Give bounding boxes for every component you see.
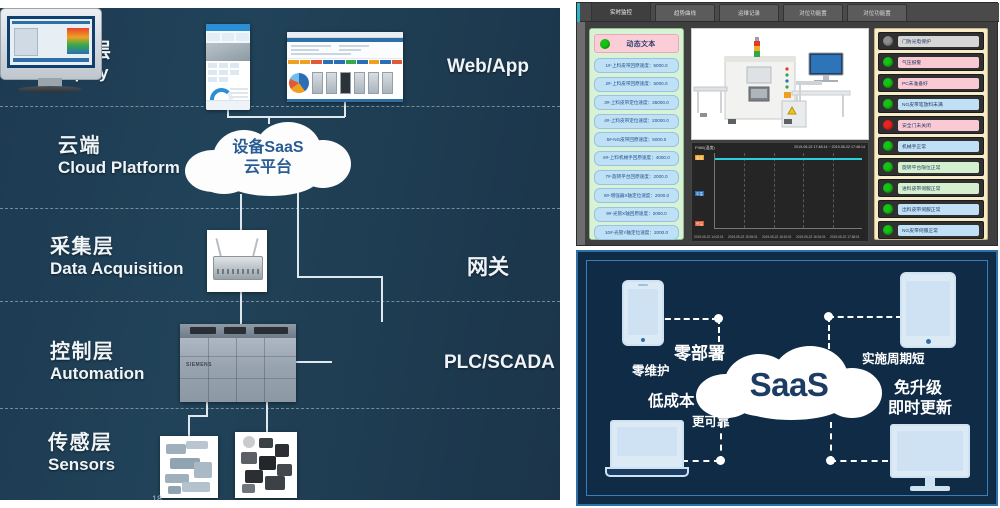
pc-statusbar bbox=[287, 99, 403, 102]
layer-label-acq: 采集层 Data Acquisition bbox=[50, 236, 184, 278]
pc-info-table bbox=[287, 42, 403, 59]
machine-illustration bbox=[692, 29, 868, 139]
monitor-bezel bbox=[0, 8, 102, 80]
alarm-indicator-icon bbox=[883, 36, 893, 46]
chart-y-label-high: 高温 bbox=[695, 155, 704, 160]
alarm-row[interactable]: 机械手正常 bbox=[878, 137, 984, 155]
web-dashboard-screenshot bbox=[287, 32, 403, 102]
mobile-app-screenshot bbox=[206, 24, 250, 110]
alarm-indicator-icon bbox=[883, 141, 893, 151]
chart-series-line bbox=[715, 158, 862, 160]
monitor-screen bbox=[7, 16, 95, 68]
alarm-label: 出料皮带伺服正常 bbox=[898, 204, 979, 215]
scada-tab-4[interactable]: 对位功能置 bbox=[847, 4, 907, 21]
connector-plc-sensor1-h bbox=[188, 415, 208, 417]
hmi-window bbox=[10, 19, 92, 65]
alarm-label: 旋转平台限位正常 bbox=[898, 162, 979, 173]
phone-machine-photo bbox=[206, 43, 250, 61]
side-label-gateway: 网关 bbox=[467, 251, 509, 281]
alarm-label: PC未准备好 bbox=[898, 78, 979, 89]
plc-body: SIEMENS bbox=[180, 338, 296, 402]
phone-tabbar bbox=[206, 100, 250, 110]
alarm-indicator-icon bbox=[883, 162, 893, 172]
status-indicator-icon bbox=[600, 39, 610, 49]
parameter-row[interactable]: 6#-上料机械手回原速度：4000.0 bbox=[594, 151, 679, 166]
alarm-row[interactable]: 门防光电保护 bbox=[878, 32, 984, 50]
connector-display-bus bbox=[227, 116, 345, 118]
plc-brand-mark: SIEMENS bbox=[186, 362, 212, 368]
tablet-icon bbox=[900, 272, 956, 348]
layer-label-auto: 控制层 Automation bbox=[50, 341, 144, 383]
scada-tab-2[interactable]: 运维记录 bbox=[719, 4, 779, 21]
parameter-row[interactable]: 2#-上料皮带回原速度：5000.0 bbox=[594, 77, 679, 92]
alarm-row[interactable]: NG皮带伺服正常 bbox=[878, 221, 984, 239]
layer-cn-cloud: 云端 bbox=[58, 135, 180, 157]
alarm-row[interactable]: 旋转平台限位正常 bbox=[878, 158, 984, 176]
connector-cloud-hmi-v2 bbox=[381, 276, 383, 322]
parameter-row[interactable]: 1#-上料皮带回原速度：5000.0 bbox=[594, 58, 679, 73]
cloud-label-line1: 设备SaaS bbox=[232, 139, 303, 156]
smartphone-icon bbox=[622, 280, 664, 346]
saas-label-short-cycle: 实施周期短 bbox=[862, 352, 925, 366]
saas-label-zero-maintain: 零维护 bbox=[632, 364, 670, 378]
cloud-platform-label: 设备SaaS 云平台 bbox=[183, 138, 353, 177]
layer-divider-2 bbox=[0, 208, 560, 209]
connector-plc-sensor2 bbox=[266, 402, 268, 434]
chart-x-tick: 2019-05-22 16:10:01 bbox=[762, 235, 792, 239]
pc-button-row bbox=[287, 59, 403, 67]
parameter-row[interactable]: 9#-光管X轴回原速度：2000.0 bbox=[594, 207, 679, 222]
desktop-monitor-icon bbox=[890, 424, 970, 478]
pneumatic-sensors-photo bbox=[160, 436, 218, 498]
scada-tab-3[interactable]: 对位功能置 bbox=[783, 4, 843, 21]
chart-x-tick: 2019-05-22 16:34:01 bbox=[796, 235, 826, 239]
monitor-base bbox=[18, 86, 82, 93]
connector-gateway-plc bbox=[240, 292, 242, 326]
dynamic-text-header: 动态文本 bbox=[594, 34, 679, 53]
chart-plot-area bbox=[714, 153, 862, 229]
layer-divider-3 bbox=[0, 301, 560, 302]
layer-cn-auto: 控制层 bbox=[50, 341, 144, 363]
saas-label-free-upgrade: 免升级 bbox=[894, 380, 942, 398]
saas-label-more-reliable: 更可靠 bbox=[692, 415, 730, 429]
chart-x-tick: 2019-05-22 14:02:01 bbox=[694, 235, 724, 239]
parameter-row[interactable]: 3#-上料皮带定位速度：35000.0 bbox=[594, 95, 679, 110]
alarm-indicator-icon bbox=[883, 225, 893, 235]
alarm-label: 气压报警 bbox=[898, 57, 979, 68]
chart-x-tick: 2019-05-22 15:26:01 bbox=[728, 235, 758, 239]
parameter-row[interactable]: 10#-光管Y轴定位速度：2000.0 bbox=[594, 225, 679, 240]
alarm-indicator-icon bbox=[883, 120, 893, 130]
alarm-label: 安全门未关闭 bbox=[898, 120, 979, 131]
alarm-row[interactable]: 出料皮带伺服正常 bbox=[878, 200, 984, 218]
node-desktop bbox=[826, 456, 835, 465]
parameter-list: 1#-上料皮带回原速度：5000.02#-上料皮带回原速度：5000.03#-上… bbox=[594, 58, 679, 240]
alarm-row[interactable]: 气压报警 bbox=[878, 53, 984, 71]
gateway-chassis bbox=[213, 256, 263, 280]
alarm-label: 机械手正常 bbox=[898, 141, 979, 152]
architecture-slide: 展示层 Display 云端 Cloud Platform 采集层 Data A… bbox=[0, 0, 560, 508]
chart-title: F980(温度) bbox=[695, 145, 715, 151]
trend-chart: F980(温度) 2019-05-22 17:48:14 ~ 2019-05-2… bbox=[691, 142, 869, 242]
parameter-row[interactable]: 5#-NG皮带回原速度：5000.0 bbox=[594, 132, 679, 147]
chart-y-label-mid: 中温 bbox=[695, 191, 704, 196]
scada-tab-0[interactable]: 实时监控 bbox=[591, 2, 651, 21]
side-label-plcscada: PLC/SCADA bbox=[444, 352, 555, 374]
alarm-indicator-icon bbox=[883, 204, 893, 214]
parameter-row[interactable]: 8#-增强器X轴定位速度：2000.0 bbox=[594, 188, 679, 203]
alarm-status-panel: 门防光电保护气压报警PC未准备好NG皮带笔放料未满安全门未关闭机械手正常旋转平台… bbox=[874, 28, 988, 240]
pc-module-2 bbox=[326, 72, 337, 94]
layer-en-auto: Automation bbox=[50, 364, 144, 383]
saas-center-word: SaaS bbox=[696, 366, 882, 404]
phone-titlebar bbox=[206, 24, 250, 31]
alarm-indicator-icon bbox=[883, 57, 893, 67]
alarm-label: NG皮带伺服正常 bbox=[898, 225, 979, 236]
pc-pie-chart bbox=[289, 73, 309, 93]
layer-en-acq: Data Acquisition bbox=[50, 259, 184, 278]
chart-time-range: 2019-05-22 17:48:14 ~ 2019-05-22 17:48:1… bbox=[794, 145, 865, 149]
phone-quick-tabs bbox=[206, 31, 250, 43]
pc-module-6 bbox=[382, 72, 393, 94]
siemens-plc-module: SIEMENS bbox=[180, 324, 296, 402]
architecture-canvas: 展示层 Display 云端 Cloud Platform 采集层 Data A… bbox=[0, 8, 560, 500]
connector-sensor1-drop bbox=[188, 415, 190, 437]
parameter-row[interactable]: 4#-上料皮带定位速度：20000.0 bbox=[594, 114, 679, 129]
saas-label-low-cost: 低成本 bbox=[648, 393, 695, 411]
pc-module-4 bbox=[354, 72, 365, 94]
chart-x-tick: 2019-05-22 17:38:01 bbox=[830, 235, 860, 239]
cloud-label-line2: 云平台 bbox=[244, 159, 292, 176]
dynamic-text-title: 动态文本 bbox=[610, 39, 678, 49]
chart-y-label-low: 低温 bbox=[695, 221, 704, 226]
pc-module-1 bbox=[312, 72, 323, 94]
electronic-sensors-photo bbox=[235, 432, 297, 498]
layer-divider-4 bbox=[0, 408, 560, 409]
link-laptop-node-h bbox=[682, 460, 720, 462]
alarm-row[interactable]: 安全门未关闭 bbox=[878, 116, 984, 134]
link-tablet-node-h bbox=[828, 316, 902, 318]
slide-page-number: 18 bbox=[152, 494, 162, 500]
plc-top-rail bbox=[180, 324, 296, 338]
node-tablet bbox=[824, 312, 833, 321]
phone-stat-grid bbox=[206, 61, 250, 84]
parameter-row[interactable]: 7#-旋转平台回原速度：2000.0 bbox=[594, 170, 679, 185]
scada-hmi-panel: 实时监控趋势曲线运维记录对位功能置对位功能置 动态文本 1#-上料皮带回原速度：… bbox=[576, 2, 998, 246]
connector-cloud-gateway bbox=[240, 194, 242, 232]
alarm-row[interactable]: NG皮带笔放料未满 bbox=[878, 95, 984, 113]
alarm-row[interactable]: 进料皮带伺服正常 bbox=[878, 179, 984, 197]
saas-infographic-panel: SaaS 零部署 零维护 低成本 更可靠 实施周期短 免升级 即时更新 bbox=[576, 250, 998, 506]
layer-divider-1 bbox=[0, 106, 560, 107]
cloud-platform-shape: 设备SaaS 云平台 bbox=[183, 120, 353, 198]
pc-chart-area bbox=[287, 67, 403, 99]
connector-plc-hmi bbox=[296, 361, 332, 363]
saas-label-zero-deploy: 零部署 bbox=[674, 344, 725, 364]
layer-label-cloud: 云端 Cloud Platform bbox=[58, 135, 180, 177]
alarm-indicator-icon bbox=[883, 183, 893, 193]
alarm-indicator-icon bbox=[883, 78, 893, 88]
pc-module-5 bbox=[368, 72, 379, 94]
layer-en-sensors: Sensors bbox=[48, 455, 115, 474]
alarm-label: 门防光电保护 bbox=[898, 36, 979, 47]
link-desktop-node-h bbox=[830, 460, 888, 462]
scada-tabbar: 实时监控趋势曲线运维记录对位功能置对位功能置 bbox=[577, 3, 999, 22]
alarm-label: 进料皮带伺服正常 bbox=[898, 183, 979, 194]
scada-monitor bbox=[0, 8, 100, 96]
alarm-label: NG皮带笔放料未满 bbox=[898, 99, 979, 110]
layer-cn-sensors: 传感层 bbox=[48, 432, 115, 454]
connector-cloud-hmi-h bbox=[297, 276, 383, 278]
layer-en-cloud: Cloud Platform bbox=[58, 158, 180, 177]
alarm-row[interactable]: PC未准备好 bbox=[878, 74, 984, 92]
laptop-icon bbox=[610, 420, 684, 470]
machine-photo bbox=[691, 28, 869, 140]
dynamic-text-panel: 动态文本 1#-上料皮带回原速度：5000.02#-上料皮带回原速度：5000.… bbox=[589, 28, 684, 240]
node-phone bbox=[714, 314, 723, 323]
node-laptop bbox=[716, 456, 725, 465]
saas-label-instant-update: 即时更新 bbox=[888, 400, 952, 418]
alarm-indicator-icon bbox=[883, 99, 893, 109]
scada-sidebar bbox=[577, 22, 585, 245]
side-label-webapp: Web/App bbox=[447, 56, 529, 78]
connector-cloud-hmi-v1 bbox=[297, 188, 299, 278]
layer-label-sensors: 传感层 Sensors bbox=[48, 432, 115, 474]
pc-module-3 bbox=[340, 72, 351, 94]
layer-cn-acq: 采集层 bbox=[50, 236, 184, 258]
screenshot-root: 展示层 Display 云端 Cloud Platform 采集层 Data A… bbox=[0, 0, 1000, 508]
connector-plc-sensor1-v bbox=[206, 402, 208, 416]
iot-gateway-device bbox=[207, 230, 267, 292]
scada-tab-1[interactable]: 趋势曲线 bbox=[655, 4, 715, 21]
